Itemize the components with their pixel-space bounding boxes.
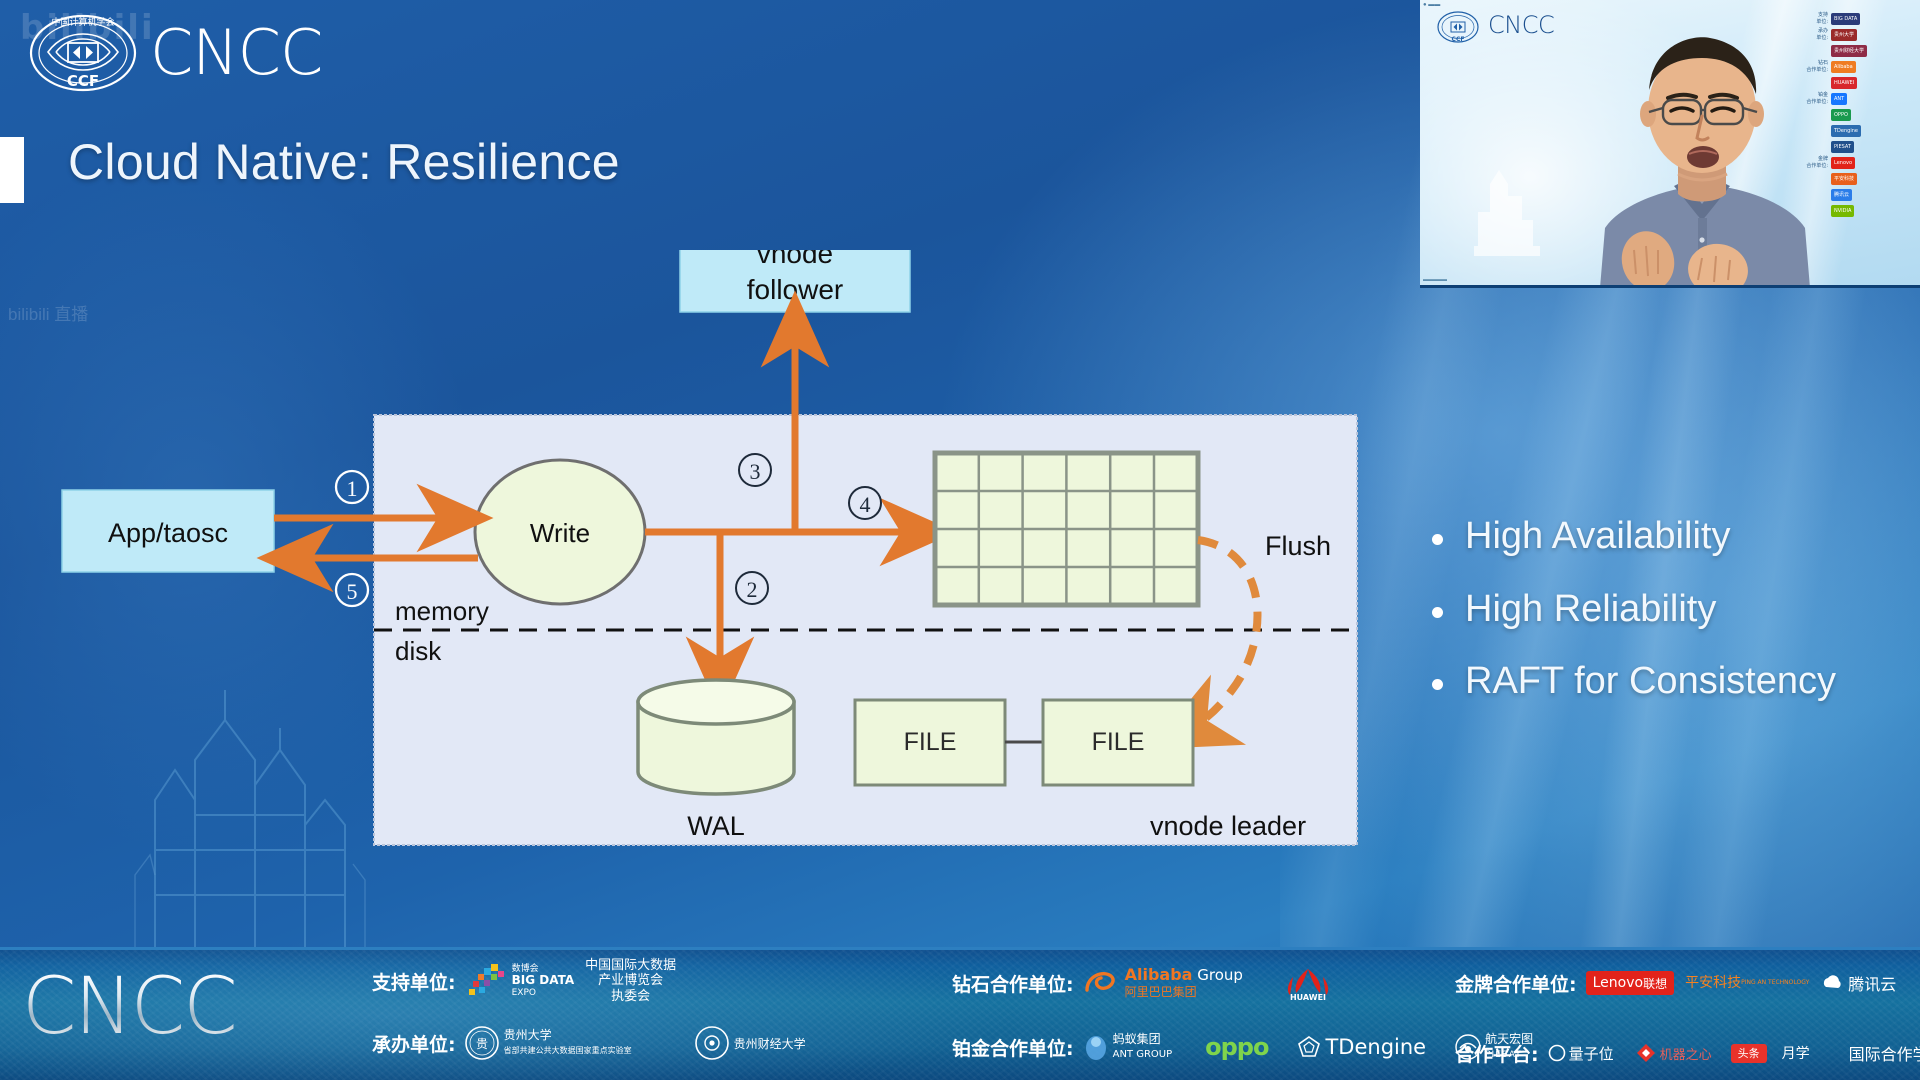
webcam-sponsor-label: 支持单位: [1798,12,1828,25]
guizhou-university-logo: 贵 贵州大学省部共建公共大数据国家重点实验室 [465,1028,632,1058]
bullet-dot-icon [1432,607,1443,618]
oppo-logo: OPPO [1831,109,1851,121]
ant-group-logo: ANT [1831,93,1847,105]
disk-label: disk [395,636,442,666]
bullet-dot-icon [1432,534,1443,545]
title-accent-bar [0,137,24,203]
step-5-label: 5 [347,579,358,604]
pingan-tech-logo: 平安科技PING AN TECHNOLOGY [1685,968,1809,998]
file-2-label: FILE [1092,728,1145,756]
webcam-top-status: ● ▬▬ [1423,2,1440,8]
vnode-follower-box: vnode follower [680,250,910,312]
webcam-sponsor-label: 钻石合作单位: [1798,60,1828,73]
write-node: Write [475,460,645,604]
bullet-list: High Availability High Reliability RAFT … [1432,515,1862,733]
guizhou-finance-university-logo: 贵州财经大学 [695,1028,806,1058]
cncc-wordmark: CNCC [150,16,322,89]
webcam-sponsor-row: 支持单位: BIG DATA [1798,12,1914,25]
step-3-label: 3 [750,459,761,484]
huawei-logo: HUAWEI [1831,77,1857,89]
svg-text:中国计算机学会: 中国计算机学会 [51,16,114,28]
svg-text:CCF: CCF [67,72,99,90]
webcam-sponsor-row: PIESAT [1798,140,1914,153]
footer-label-platinum: 铂金合作单位: [952,1034,1074,1061]
bigdata-expo-logo: BIG DATA [1831,13,1860,25]
step-4-label: 4 [860,492,871,517]
yuexue-logo: 月学 [1782,1038,1810,1068]
file-1-label: FILE [904,728,957,756]
svg-text:CCF: CCF [1452,36,1465,43]
footer-label-platform: 合作平台: [1455,1040,1539,1067]
svg-text:HUAWEI: HUAWEI [1290,993,1326,1001]
footer-label-diamond: 钻石合作单位: [952,970,1074,997]
vnode-leader-label: vnode leader [1150,811,1306,841]
webcam-sponsor-row: OPPO [1798,108,1914,121]
pingan-tech-logo: 平安科技 [1831,173,1857,185]
footer-block-support: 支持单位: 数博会BIG DATAEXPO 中国国际大数据产业博览会执委会 [372,966,687,996]
tencent-cloud-logo: 腾讯云 [1820,968,1896,998]
write-label: Write [530,518,590,548]
footer-block-gold: 金牌合作单位: Lenovo 联想 平安科技PING AN TECHNOLOGY… [1455,968,1920,998]
bullet-label: High Reliability [1465,588,1716,632]
oppo-logo: oppo [1205,1032,1268,1062]
bullet-dot-icon [1432,679,1443,690]
qbitai-logo: 量子位 [1548,1038,1614,1068]
vnode-follower-line1: vnode [757,250,833,269]
ccf-logo-icon: 中国计算机学会 CCF [28,12,138,94]
page-title: Cloud Native: Resilience [68,133,620,191]
footer-label-gold: 金牌合作单位: [1455,970,1577,997]
toutiao-logo: 头条 [1731,1044,1767,1063]
webcam-sponsor-row: 铂金合作单位: ANT [1798,92,1914,105]
webcam-sponsor-label: 承办单位: [1798,28,1828,41]
app-taosc-label: App/taosc [108,518,228,548]
step-2-label: 2 [747,577,758,602]
piesat-logo: PIESAT [1831,141,1854,153]
footer-label-support: 支持单位: [372,968,456,995]
sponsor-footer: CNCC 支持单位: 数博会BIG DATAEXPO 中国国际 [0,947,1920,1080]
nvidia-logo: NVIDIA [1831,205,1854,217]
tdengine-logo: TDengine [1831,125,1861,137]
webcam-sponsor-row: 腾讯云 [1798,188,1914,201]
jiqizhixin-logo: 机器之心 [1635,1038,1712,1068]
step-1-label: 1 [347,476,358,501]
alibaba-logo: Alibaba [1831,61,1856,73]
app-taosc-box: App/taosc [62,490,274,572]
architecture-diagram: vnode follower memory disk App/taosc Wri… [0,250,1400,880]
footer-block-organizer: 承办单位: 贵 贵州大学省部共建公共大数据国家重点实验室 贵州财经大学 [372,1028,817,1058]
tdengine-logo: TDengine [1297,1032,1426,1062]
slide-header: 中国计算机学会 CCF CNCC [0,0,1420,110]
webcam-sponsor-row: 钻石合作单位: Alibaba [1798,60,1914,73]
memory-grid [935,453,1198,605]
alibaba-logo: Alibaba Group 阿里巴巴集团 [1083,968,1243,998]
list-item: High Availability [1432,515,1862,559]
huawei-logo: HUAWEI [1280,968,1339,998]
ant-group-logo: 蚂蚁集团ANT GROUP [1083,1032,1173,1062]
bullet-label: RAFT for Consistency [1465,660,1836,704]
webcam-sponsor-row: 金牌合作单位: Lenovo [1798,156,1914,169]
file-box-1: FILE [855,700,1005,785]
webcam-sponsor-row: NVIDIA [1798,204,1914,217]
webcam-sponsor-row: 承办单位: 贵州大学 [1798,28,1914,41]
footer-label-international: 国际合作学会: [1849,1041,1920,1065]
guizhou-finance-university-logo: 贵州财经大学 [1831,45,1867,57]
webcam-overlay[interactable]: ● ▬▬ ▬▬▬▬ CCF CNCC [1420,0,1920,288]
tencent-cloud-logo: 腾讯云 [1831,189,1852,201]
list-item: RAFT for Consistency [1432,660,1862,704]
list-item: High Reliability [1432,588,1862,632]
webcam-sponsor-row: TDengine [1798,124,1914,137]
webcam-cncc-wordmark: CNCC [1488,11,1554,39]
webcam-speaker [1570,18,1835,288]
footer-block-diamond: 钻石合作单位: Alibaba Group 阿里巴巴集团 HUAWEI [952,968,1350,998]
international-society-label: 国际合作学会: ACM IEEE CS [1849,1038,1920,1068]
svg-text:贵: 贵 [476,1037,488,1051]
lenovo-logo: Lenovo [1831,157,1855,169]
webcam-sponsor-label: 金牌合作单位: [1798,156,1828,169]
flush-label: Flush [1265,531,1331,561]
file-box-2: FILE [1043,700,1193,785]
webcam-ccf-logo-icon: CCF [1436,10,1480,44]
bigdata-expo-logo: 数博会BIG DATAEXPO [465,966,575,996]
webcam-tower-artwork [1468,162,1548,267]
step-marker-1: 1 [336,471,368,503]
webcam-sponsor-row: 贵州财经大学 [1798,44,1914,57]
guizhou-university-logo: 贵州大学 [1831,29,1857,41]
webcam-sponsor-row: HUAWEI [1798,76,1914,89]
memory-label: memory [395,596,489,626]
webcam-sponsor-row: 平安科技 [1798,172,1914,185]
webcam-bottom-status: ▬▬▬▬ [1423,277,1447,283]
footer-label-organizer: 承办单位: [372,1030,456,1057]
wal-label: WAL [687,811,745,841]
footer-block-platform: 合作平台: 量子位 机器之心 头条 月学 国际合作学会: ACM IEEE CS [1455,1038,1920,1068]
bigdata-expo-committee-label: 中国国际大数据产业博览会执委会 [585,966,676,996]
bullet-label: High Availability [1465,515,1730,559]
vnode-follower-line2: follower [747,274,843,305]
wal-cylinder [638,680,794,794]
footer-cncc-wordmark: CNCC [22,962,236,1052]
step-marker-5: 5 [336,574,368,606]
webcam-sponsor-label: 铂金合作单位: [1798,92,1828,105]
lenovo-logo: Lenovo 联想 [1586,971,1674,995]
webcam-sponsor-column: 支持单位: BIG DATA 承办单位: 贵州大学 贵州财经大学 钻石合作单位:… [1798,12,1914,220]
